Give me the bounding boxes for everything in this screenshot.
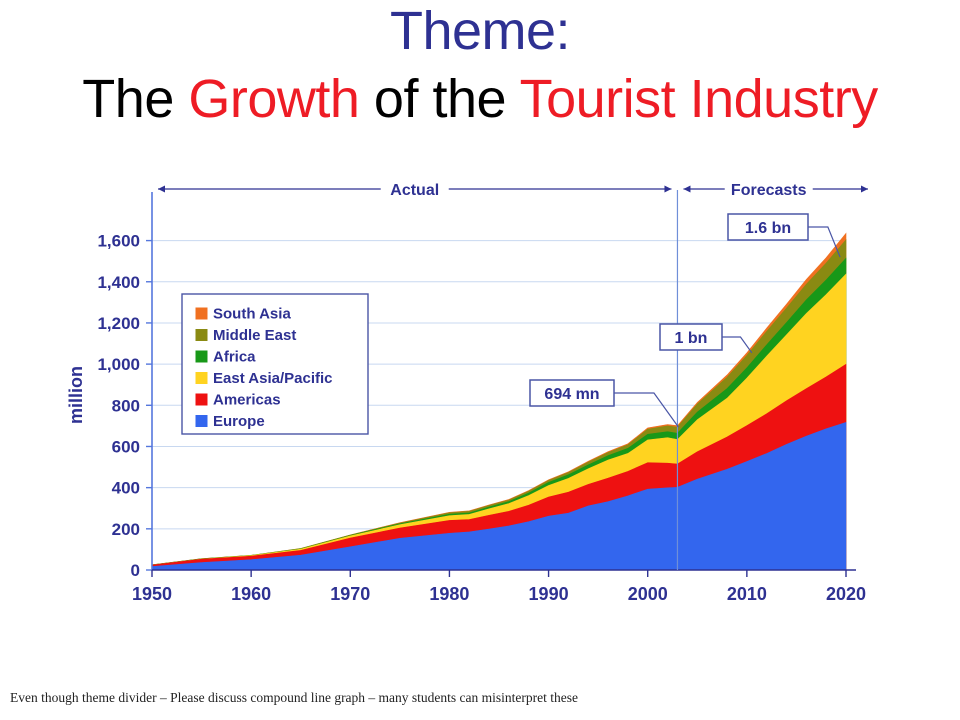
legend-label: South Asia [213, 306, 291, 323]
y-tick-label: 400 [112, 479, 140, 498]
y-axis-title-group: million [66, 366, 86, 424]
actual-period-label: Actual [390, 182, 439, 199]
x-tick-label: 1990 [529, 584, 569, 604]
legend-label: Americas [213, 392, 281, 409]
legend-label: East Asia/Pacific [213, 370, 333, 387]
y-tick-label: 200 [112, 520, 140, 539]
x-tick-label: 1960 [231, 584, 271, 604]
legend-label: Middle East [213, 327, 296, 344]
annotation-16bn-label: 1.6 bn [745, 220, 791, 237]
forecast-arrow-right-head [861, 186, 868, 193]
page-title-theme: Theme: [0, 4, 960, 58]
annotation-1bn-leader [722, 337, 752, 353]
forecasts-period-label: Forecasts [731, 182, 807, 199]
legend-label: Europe [213, 413, 265, 430]
legend-swatch [196, 373, 207, 384]
y-tick-label: 0 [131, 561, 140, 580]
legend-swatch [196, 394, 207, 405]
chart-legend: South AsiaMiddle EastAfricaEast Asia/Pac… [182, 294, 368, 434]
legend-swatch [196, 330, 207, 341]
x-tick-label: 2010 [727, 584, 767, 604]
x-tick-label: 2020 [826, 584, 866, 604]
tourism-growth-area-chart: 02004006008001,0001,2001,4001,6001950196… [60, 172, 900, 612]
y-axis-title: million [66, 366, 86, 424]
legend-swatch [196, 416, 207, 427]
chart-canvas: 02004006008001,0001,2001,4001,6001950196… [60, 172, 900, 612]
y-tick-label: 1,000 [97, 355, 140, 374]
actual-arrow-right-head [664, 186, 671, 193]
annotation-694mn-leader [614, 393, 678, 427]
legend-swatch [196, 351, 207, 362]
title-word-tourist-industry: Tourist Industry [520, 69, 878, 129]
slide-note-caption: Even though theme divider – Please discu… [10, 690, 578, 706]
y-tick-label: 1,400 [97, 273, 140, 292]
page-title-subject: The Growth of the Tourist Industry [0, 72, 960, 126]
slide-title-block: Theme: The Growth of the Tourist Industr… [0, 4, 960, 126]
y-tick-label: 800 [112, 396, 140, 415]
annotation-694mn-label: 694 mn [544, 386, 599, 403]
legend-swatch [196, 308, 207, 319]
y-tick-label: 600 [112, 437, 140, 456]
x-tick-label: 1970 [330, 584, 370, 604]
x-tick-label: 1980 [429, 584, 469, 604]
actual-arrow-left-head [158, 186, 165, 193]
actual-forecast-header-group: ActualForecasts [158, 182, 868, 199]
title-word-the: The [82, 69, 188, 129]
title-word-ofthe: of the [359, 69, 519, 129]
y-tick-label: 1,200 [97, 314, 140, 333]
x-tick-label: 2000 [628, 584, 668, 604]
legend-label: Africa [213, 349, 256, 366]
annotation-1bn-label: 1 bn [675, 330, 708, 347]
y-tick-label: 1,600 [97, 232, 140, 251]
x-tick-label: 1950 [132, 584, 172, 604]
forecast-arrow-left-head [683, 186, 690, 193]
title-word-growth: Growth [188, 69, 359, 129]
